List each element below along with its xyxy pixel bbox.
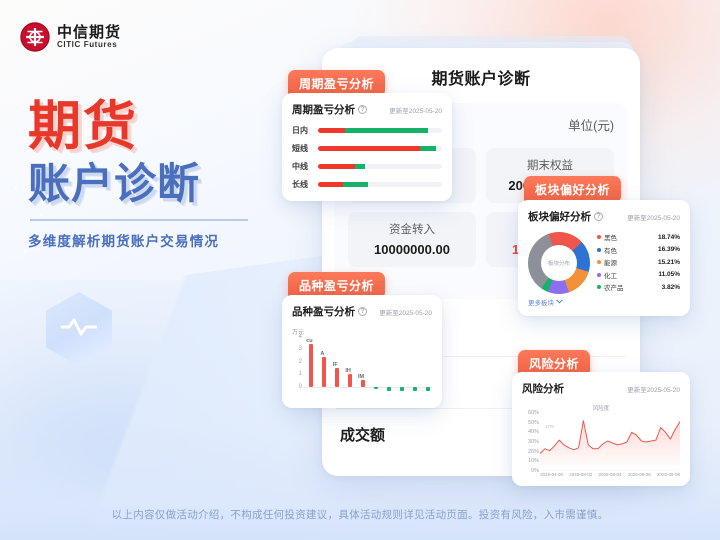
disclaimer-text: 以上内容仅做活动介绍，不构成任何投资建议，具体活动规则详见活动页面。投资有风险，…: [0, 507, 720, 522]
card-title-text: 板块偏好分析: [528, 209, 591, 224]
risk-chart-label: 风险度: [522, 404, 680, 412]
axis-tick: 4: [299, 334, 302, 340]
axis-tick: 2025-08-06: [628, 472, 651, 477]
chart-bar-label: A: [320, 351, 324, 357]
list-item: 农产品3.82%: [597, 282, 680, 292]
cycle-pnl-card: 周期盈亏分析 ? 更新至2025-05-20 日内 短线 中线: [282, 93, 452, 201]
update-date: 更新至2025-05-20: [627, 212, 680, 222]
brand-logo: 中信期货 CITIC Futures: [20, 22, 121, 52]
cycle-bar-loss: [318, 146, 420, 151]
legend-dot: [597, 260, 601, 264]
brand-name-en: CITIC Futures: [57, 40, 121, 49]
chart-y-axis: 0%10%20%30%40%50%60%: [522, 413, 540, 471]
risk-line-svg: [540, 413, 680, 471]
chart-bar: [387, 387, 391, 391]
risk-line-chart: 0%10%20%30%40%50%60% 17%: [522, 413, 680, 471]
citic-circle-logo-icon: [20, 22, 50, 52]
axis-tick: 0%: [531, 468, 539, 474]
legend-label: 黑色: [604, 232, 658, 242]
cycle-bar-track: [318, 128, 442, 133]
chart-plot-area: cuAIFIHIM: [303, 337, 432, 399]
chevron-down-icon: [556, 299, 563, 304]
cycle-bar-profit: [420, 146, 436, 151]
help-icon[interactable]: ?: [358, 307, 367, 316]
help-icon[interactable]: ?: [358, 105, 367, 114]
cycle-bar-track: [318, 146, 442, 151]
axis-tick: 30%: [528, 439, 539, 445]
cycle-bar-loss: [318, 164, 355, 169]
stat-value: 10000000.00: [352, 242, 472, 257]
update-date: 更新至2025-05-20: [379, 307, 432, 317]
card-title: 品种盈亏分析 ?: [292, 304, 367, 319]
card-title-text: 周期盈亏分析: [292, 102, 355, 117]
axis-tick: 2025-04-00: [540, 472, 563, 477]
sector-preference-card: 板块偏好分析 ? 更新至2025-05-20 板块分布 黑色18.74%有色16…: [518, 200, 690, 316]
chart-bar-label: IM: [358, 374, 364, 380]
risk-analysis-card: 风险分析 更新至2025-05-20 风险度 0%10%20%30%40%50%…: [512, 372, 690, 486]
legend-dot: [597, 235, 601, 239]
axis-tick: 1: [299, 371, 302, 377]
card-title: 风险分析: [522, 381, 564, 396]
sector-more-link[interactable]: 更多板块: [528, 297, 680, 307]
legend-label: 农产品: [604, 282, 662, 292]
axis-tick: 20%: [528, 449, 539, 455]
legend-label: 能源: [604, 257, 658, 267]
chart-unit-label: 万元: [292, 327, 432, 336]
chart-y-axis: 01234: [292, 337, 303, 399]
cycle-bar-track: [318, 164, 442, 169]
axis-tick: 40%: [528, 429, 539, 435]
chart-bar-label: cu: [306, 338, 312, 344]
legend-dot: [597, 273, 601, 277]
legend-value: 3.82%: [662, 284, 680, 291]
axis-tick: 0: [299, 384, 302, 390]
chart-bar: [335, 368, 339, 387]
chart-bar: [413, 387, 417, 391]
update-date: 更新至2025-05-20: [389, 105, 442, 115]
cycle-bar-profit: [343, 182, 368, 187]
chart-bar: [348, 374, 352, 386]
list-item: 有色16.39%: [597, 245, 680, 255]
legend-value: 15.21%: [658, 259, 680, 266]
chart-bar: [426, 387, 430, 391]
cycle-bar-loss: [318, 182, 343, 187]
cycle-label: 短线: [292, 143, 312, 154]
unit-label: 单位(元): [568, 115, 614, 134]
list-item: 短线: [292, 143, 442, 154]
risk-annotation: 17%: [545, 424, 554, 429]
chart-bar: [374, 387, 378, 389]
chart-bar: [361, 380, 365, 386]
hero-subtitle: 多维度解析期货账户交易情况: [28, 230, 288, 250]
axis-tick: 2025-08-02: [569, 472, 592, 477]
help-icon[interactable]: ?: [594, 212, 603, 221]
cycle-bar-profit: [355, 164, 365, 169]
axis-tick: 3: [299, 346, 302, 352]
legend-value: 16.39%: [658, 246, 680, 253]
chart-bar: [309, 344, 313, 386]
card-title: 板块偏好分析 ?: [528, 209, 603, 224]
chart-x-axis: 2025-04-002025-08-022025-08-042025-08-06…: [522, 472, 680, 477]
legend-label: 化工: [604, 270, 658, 280]
card-title: 周期盈亏分析 ?: [292, 102, 367, 117]
brand-name-cn: 中信期货: [57, 25, 121, 41]
axis-tick: 10%: [528, 458, 539, 464]
hero-headline: 期货 账户诊断 多维度解析期货账户交易情况: [28, 100, 288, 250]
axis-tick: 50%: [528, 420, 539, 426]
chart-bar-label: IH: [345, 368, 351, 374]
list-item: 黑色18.74%: [597, 232, 680, 242]
list-item: 长线: [292, 179, 442, 190]
cycle-bar-list: 日内 短线 中线 长线: [292, 125, 442, 190]
pulse-line-icon: [61, 316, 97, 338]
sector-more-label: 更多板块: [528, 297, 554, 307]
axis-tick: 2: [299, 359, 302, 365]
legend-label: 有色: [604, 245, 658, 255]
chart-bar: [400, 387, 404, 391]
list-item: 能源15.21%: [597, 257, 680, 267]
sparkle: [14, 186, 17, 189]
legend-value: 18.74%: [658, 234, 680, 241]
sector-legend: 黑色18.74%有色16.39%能源15.21%化工11.05%农产品3.82%: [597, 232, 680, 295]
cycle-bar-track: [318, 182, 442, 187]
sector-donut-chart: 板块分布: [528, 232, 590, 294]
cycle-bar-loss: [318, 128, 345, 133]
stat-label: 期末权益: [490, 157, 610, 173]
update-date: 更新至2025-05-20: [627, 384, 680, 394]
axis-tick: 60%: [528, 410, 539, 416]
list-item: 中线: [292, 161, 442, 172]
legend-dot: [597, 248, 601, 252]
chart-plot-area: 17%: [540, 413, 680, 471]
card-title-text: 风险分析: [522, 381, 564, 396]
cycle-bar-profit: [345, 128, 428, 133]
card-title-text: 品种盈亏分析: [292, 304, 355, 319]
pulse-hexagon-icon: [46, 292, 112, 366]
chart-bar: [322, 357, 326, 387]
list-item: 日内: [292, 125, 442, 136]
axis-tick: 2025-08-04: [598, 472, 621, 477]
cycle-label: 长线: [292, 179, 312, 190]
stat-label: 资金转入: [352, 221, 472, 237]
sparkle: [24, 250, 27, 253]
donut-center-label: 板块分布: [541, 245, 577, 281]
chart-bar-label: IF: [333, 362, 338, 368]
legend-value: 11.05%: [658, 271, 680, 278]
list-item: 化工11.05%: [597, 270, 680, 280]
legend-dot: [597, 285, 601, 289]
cycle-label: 中线: [292, 161, 312, 172]
axis-tick: 2025-08-08: [657, 472, 680, 477]
hero-divider: [30, 219, 248, 221]
variety-pnl-card: 品种盈亏分析 ? 更新至2025-05-20 万元 01234 cuAIFIHI…: [282, 295, 442, 408]
hero-title-line2: 账户诊断: [28, 163, 288, 205]
stat-fund-transfer-in: 资金转入 10000000.00: [348, 212, 476, 267]
hero-title-line1: 期货: [28, 100, 288, 153]
variety-bar-chart: 01234 cuAIFIHIM: [292, 337, 432, 399]
tag-sector-preference: 板块偏好分析: [524, 176, 621, 203]
cycle-label: 日内: [292, 125, 312, 136]
